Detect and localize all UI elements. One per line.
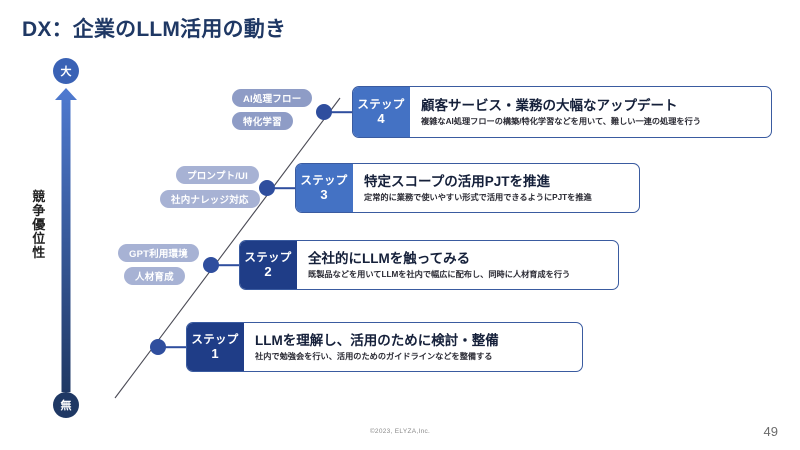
pill-talent-development: 人材育成 — [124, 267, 185, 285]
slide-canvas: DX：企業のLLM活用の動き 大 無 競争優位性 AI処理フロー 特化学習 プロ… — [0, 0, 800, 450]
step-badge-number-3: 3 — [320, 188, 327, 202]
connector-step-2 — [217, 264, 239, 266]
step-badge-number-4: 4 — [377, 112, 384, 126]
step-heading-2: 全社的にLLMを触ってみる — [308, 251, 608, 267]
step-card-4[interactable]: ステップ 4 顧客サービス・業務の大幅なアップデート 複雑なAI処理フローの構築… — [352, 86, 772, 138]
step-body-4: 顧客サービス・業務の大幅なアップデート 複雑なAI処理フローの構築/特化学習など… — [410, 87, 771, 137]
step-badge-word-3: ステップ — [300, 175, 347, 187]
step-badge-word-4: ステップ — [357, 99, 404, 111]
step-badge-word-1: ステップ — [191, 334, 238, 346]
step-badge-number-2: 2 — [264, 265, 271, 279]
page-number: 49 — [764, 424, 778, 439]
pill-ai-processing-flow: AI処理フロー — [232, 89, 312, 107]
pill-internal-knowledge: 社内ナレッジ対応 — [160, 190, 260, 208]
step-badge-1: ステップ 1 — [186, 322, 244, 372]
footer-copyright: ©2023, ELYZA,Inc. — [0, 428, 800, 435]
step-badge-2: ステップ 2 — [239, 240, 297, 290]
pill-prompt-ui: プロンプト/UI — [176, 166, 259, 184]
pill-specialized-learning: 特化学習 — [232, 112, 293, 130]
step-subtitle-2: 既製品などを用いてLLMを社内で幅広に配布し、同時に人材育成を行う — [308, 270, 608, 280]
step-heading-3: 特定スコープの活用PJTを推進 — [364, 174, 629, 190]
step-body-1: LLMを理解し、活用のために検討・整備 社内で勉強会を行い、活用のためのガイドラ… — [244, 323, 582, 371]
pill-gpt-environment: GPT利用環境 — [118, 244, 199, 262]
step-badge-word-2: ステップ — [244, 252, 291, 264]
step-card-1[interactable]: ステップ 1 LLMを理解し、活用のために検討・整備 社内で勉強会を行い、活用の… — [186, 322, 583, 372]
step-card-3[interactable]: ステップ 3 特定スコープの活用PJTを推進 定常的に業務で使いやすい形式で活用… — [295, 163, 640, 213]
step-badge-4: ステップ 4 — [352, 86, 410, 138]
step-card-2[interactable]: ステップ 2 全社的にLLMを触ってみる 既製品などを用いてLLMを社内で幅広に… — [239, 240, 619, 290]
connector-step-3 — [273, 187, 295, 189]
step-body-3: 特定スコープの活用PJTを推進 定常的に業務で使いやすい形式で活用できるようにP… — [353, 164, 639, 212]
step-subtitle-4: 複雑なAI処理フローの構築/特化学習などを用いて、難しい一連の処理を行う — [421, 117, 761, 127]
step-body-2: 全社的にLLMを触ってみる 既製品などを用いてLLMを社内で幅広に配布し、同時に… — [297, 241, 618, 289]
step-subtitle-3: 定常的に業務で使いやすい形式で活用できるようにPJTを推進 — [364, 193, 629, 203]
step-subtitle-1: 社内で勉強会を行い、活用のためのガイドラインなどを整備する — [255, 352, 572, 362]
step-badge-number-1: 1 — [211, 347, 218, 361]
step-heading-4: 顧客サービス・業務の大幅なアップデート — [421, 98, 761, 114]
step-badge-3: ステップ 3 — [295, 163, 353, 213]
step-heading-1: LLMを理解し、活用のために検討・整備 — [255, 333, 572, 349]
axis-arrow — [0, 0, 800, 450]
connector-step-4 — [330, 111, 352, 113]
connector-step-1 — [164, 346, 186, 348]
